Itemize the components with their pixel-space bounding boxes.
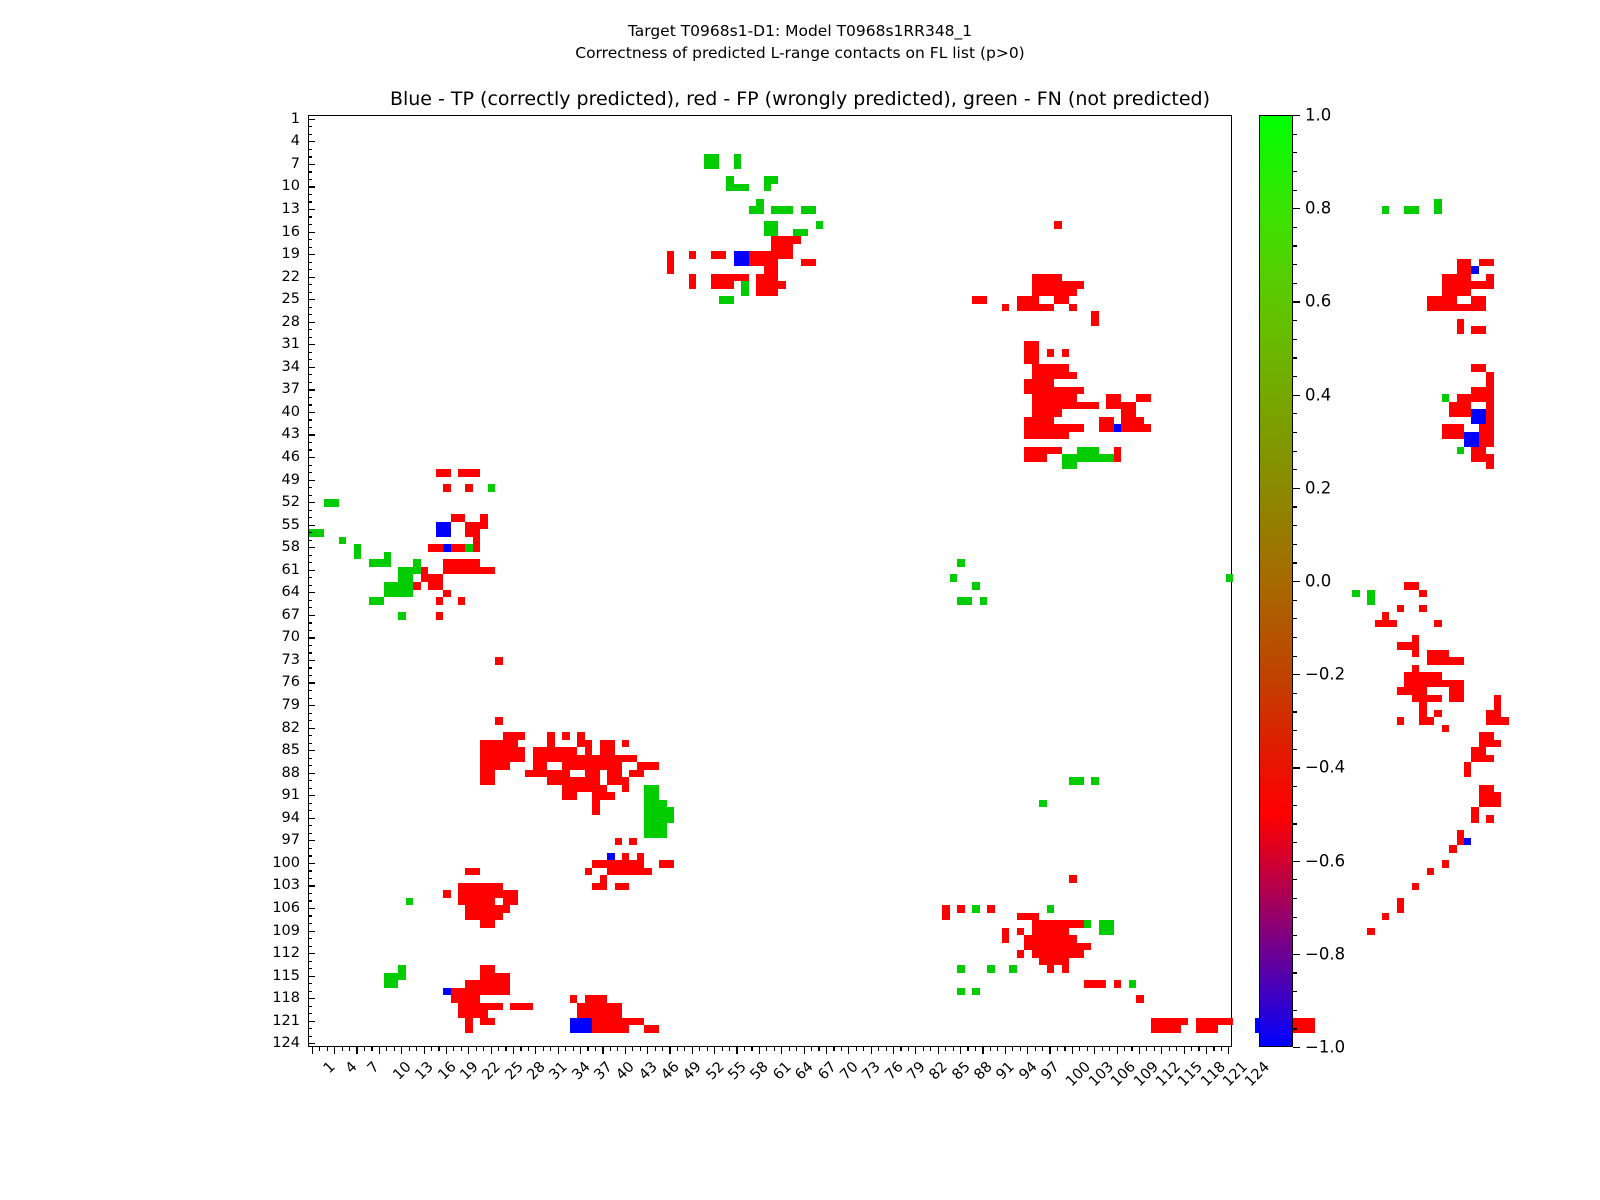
contact-cell bbox=[451, 544, 466, 552]
contact-cell bbox=[369, 559, 384, 567]
x-tick-minor bbox=[789, 1047, 790, 1051]
contact-cell bbox=[1479, 259, 1494, 267]
y-tick-minor bbox=[308, 585, 312, 586]
color-legend-text: Blue - TP (correctly predicted), red - F… bbox=[0, 88, 1600, 110]
y-tick-label: 124 bbox=[240, 1035, 300, 1051]
contact-cell bbox=[1486, 755, 1493, 763]
contact-cell bbox=[577, 755, 599, 770]
contact-cell bbox=[421, 567, 428, 582]
x-tick-major bbox=[1206, 1047, 1207, 1054]
y-tick-minor bbox=[308, 284, 312, 285]
y-tick-minor bbox=[308, 645, 312, 646]
colorbar-tick-minor bbox=[1293, 506, 1297, 507]
x-tick-major bbox=[1117, 1047, 1118, 1054]
contact-cell bbox=[1471, 266, 1478, 274]
y-tick-minor bbox=[308, 667, 312, 668]
y-tick-major bbox=[308, 525, 315, 526]
contact-cell bbox=[659, 860, 674, 868]
colorbar-tick-minor bbox=[1293, 991, 1297, 992]
y-tick-minor bbox=[308, 465, 312, 466]
y-tick-label: 64 bbox=[240, 584, 300, 600]
x-tick-minor bbox=[1057, 1047, 1058, 1051]
contact-cell bbox=[607, 770, 622, 785]
contact-cell bbox=[741, 289, 748, 297]
y-tick-label: 52 bbox=[240, 494, 300, 510]
x-tick-label: 67 bbox=[815, 1059, 839, 1083]
contact-cell bbox=[570, 995, 577, 1003]
contact-cell bbox=[1442, 394, 1449, 402]
contact-cell bbox=[1479, 424, 1494, 447]
x-tick-minor bbox=[908, 1047, 909, 1051]
contact-cell bbox=[1397, 898, 1404, 913]
contact-cell bbox=[778, 281, 785, 289]
colorbar-tick-label: −0.4 bbox=[1305, 758, 1345, 777]
x-tick-major bbox=[893, 1047, 894, 1054]
contact-cell bbox=[1017, 913, 1032, 921]
x-tick-major bbox=[334, 1047, 335, 1054]
contact-cell bbox=[1069, 920, 1084, 928]
contact-cell bbox=[577, 785, 592, 793]
y-tick-major bbox=[308, 998, 315, 999]
y-tick-minor bbox=[308, 878, 312, 879]
x-tick-minor bbox=[327, 1047, 328, 1051]
y-tick-minor bbox=[308, 983, 312, 984]
y-tick-major bbox=[308, 254, 315, 255]
x-tick-label: 91 bbox=[994, 1059, 1018, 1083]
x-tick-major bbox=[513, 1047, 514, 1054]
y-tick-label: 13 bbox=[240, 201, 300, 217]
contact-cell bbox=[764, 251, 779, 274]
y-tick-minor bbox=[308, 630, 312, 631]
y-tick-label: 73 bbox=[240, 652, 300, 668]
x-tick-label: 28 bbox=[524, 1059, 548, 1083]
contact-cell bbox=[1114, 980, 1121, 988]
title-line-1: Target T0968s1-D1: Model T0968s1RR348_1 bbox=[0, 20, 1600, 42]
y-tick-major bbox=[308, 1021, 315, 1022]
y-tick-major bbox=[308, 186, 315, 187]
contact-cell bbox=[1464, 838, 1471, 846]
contact-cell bbox=[436, 612, 443, 620]
y-tick-minor bbox=[308, 427, 312, 428]
contact-cell bbox=[711, 274, 733, 289]
x-tick-label: 46 bbox=[658, 1059, 682, 1083]
y-tick-label: 40 bbox=[240, 404, 300, 420]
y-tick-minor bbox=[308, 600, 312, 601]
x-tick-minor bbox=[550, 1047, 551, 1051]
contact-cell bbox=[1486, 372, 1493, 387]
contact-cell bbox=[1024, 379, 1046, 394]
y-tick-major bbox=[308, 863, 315, 864]
y-tick-minor bbox=[308, 292, 312, 293]
contact-cell bbox=[1464, 762, 1471, 777]
colorbar-tick-minor bbox=[1293, 339, 1297, 340]
contact-cell bbox=[622, 755, 637, 763]
contact-cell bbox=[622, 740, 629, 748]
x-tick-major bbox=[468, 1047, 469, 1054]
contact-cell bbox=[1457, 394, 1472, 402]
colorbar-tick-major bbox=[1293, 954, 1300, 955]
contact-cell bbox=[637, 762, 659, 770]
x-tick-minor bbox=[476, 1047, 477, 1051]
x-tick-major bbox=[535, 1047, 536, 1054]
y-tick-minor bbox=[308, 562, 312, 563]
colorbar-tick-major bbox=[1293, 1047, 1300, 1048]
y-tick-major bbox=[308, 434, 315, 435]
y-tick-minor bbox=[308, 449, 312, 450]
contact-cell bbox=[1129, 980, 1136, 988]
contact-cell bbox=[1486, 815, 1493, 823]
contact-cell bbox=[1486, 454, 1493, 469]
y-tick-label: 61 bbox=[240, 562, 300, 578]
x-tick-minor bbox=[997, 1047, 998, 1051]
contact-cell bbox=[1121, 402, 1136, 417]
colorbar-tick-label: 0.6 bbox=[1305, 292, 1331, 311]
x-tick-label: 49 bbox=[681, 1059, 705, 1083]
x-tick-major bbox=[938, 1047, 939, 1054]
contact-map-plot[interactable] bbox=[308, 115, 1232, 1047]
x-tick-minor bbox=[573, 1047, 574, 1051]
contact-cell bbox=[1084, 920, 1091, 928]
contact-cell bbox=[443, 484, 450, 492]
x-tick-label: 94 bbox=[1016, 1059, 1040, 1083]
contact-cell bbox=[756, 274, 778, 297]
y-tick-label: 88 bbox=[240, 765, 300, 781]
y-tick-major bbox=[308, 141, 315, 142]
x-tick-label: 4 bbox=[343, 1059, 361, 1077]
y-tick-minor bbox=[308, 1028, 312, 1029]
y-tick-label: 49 bbox=[240, 472, 300, 488]
contact-cell bbox=[629, 838, 636, 846]
y-tick-label: 58 bbox=[240, 539, 300, 555]
contact-cell bbox=[465, 544, 472, 552]
contact-cell bbox=[957, 988, 964, 996]
contact-cell bbox=[1062, 958, 1069, 973]
contact-cell bbox=[1471, 281, 1486, 289]
contact-cell bbox=[726, 176, 733, 191]
y-tick-label: 85 bbox=[240, 742, 300, 758]
colorbar-tick-minor bbox=[1293, 935, 1297, 936]
colorbar-tick-minor bbox=[1293, 1028, 1297, 1029]
contact-cell bbox=[972, 988, 979, 996]
contact-cell bbox=[1427, 868, 1434, 876]
colorbar-tick-minor bbox=[1293, 562, 1297, 563]
colorbar-tick-minor bbox=[1293, 618, 1297, 619]
y-tick-minor bbox=[308, 382, 312, 383]
x-tick-minor bbox=[520, 1047, 521, 1051]
colorbar-tick-minor bbox=[1293, 245, 1297, 246]
contact-cell bbox=[1471, 387, 1493, 402]
y-tick-major bbox=[308, 119, 315, 120]
x-tick-label: 43 bbox=[636, 1059, 660, 1083]
contact-cell bbox=[764, 176, 779, 184]
y-tick-label: 100 bbox=[240, 855, 300, 871]
contact-cell bbox=[1382, 206, 1389, 214]
y-tick-major bbox=[308, 795, 315, 796]
x-tick-label: 61 bbox=[770, 1059, 794, 1083]
contact-cell bbox=[711, 251, 726, 259]
contact-cell bbox=[369, 597, 384, 605]
contact-cell bbox=[398, 567, 413, 582]
contact-cell bbox=[585, 740, 592, 755]
y-tick-major bbox=[308, 1043, 315, 1044]
x-tick-minor bbox=[707, 1047, 708, 1051]
x-tick-minor bbox=[990, 1047, 991, 1051]
contact-cell bbox=[1069, 372, 1076, 380]
colorbar-tick-label: 0.8 bbox=[1305, 199, 1331, 218]
y-tick-label: 121 bbox=[240, 1013, 300, 1029]
y-tick-major bbox=[308, 750, 315, 751]
x-tick-minor bbox=[1020, 1047, 1021, 1051]
contact-cell bbox=[615, 838, 622, 846]
y-tick-major bbox=[308, 277, 315, 278]
x-tick-major bbox=[1184, 1047, 1185, 1054]
y-tick-major bbox=[308, 682, 315, 683]
contact-cell bbox=[443, 590, 450, 598]
contact-cell bbox=[1471, 447, 1486, 462]
y-tick-minor bbox=[308, 134, 312, 135]
contact-cell bbox=[987, 965, 994, 973]
x-tick-label: 52 bbox=[703, 1059, 727, 1083]
x-tick-minor bbox=[1087, 1047, 1088, 1051]
contact-cell bbox=[1077, 943, 1092, 951]
y-tick-label: 94 bbox=[240, 810, 300, 826]
contact-cell bbox=[734, 274, 749, 282]
x-tick-minor bbox=[684, 1047, 685, 1051]
x-tick-minor bbox=[386, 1047, 387, 1051]
contact-cell bbox=[1427, 650, 1449, 665]
y-tick-minor bbox=[308, 765, 312, 766]
y-tick-minor bbox=[308, 247, 312, 248]
x-tick-major bbox=[1161, 1047, 1162, 1054]
x-tick-minor bbox=[610, 1047, 611, 1051]
colorbar-tick-major bbox=[1293, 208, 1300, 209]
x-tick-minor bbox=[886, 1047, 887, 1051]
contact-cell bbox=[622, 853, 629, 861]
x-tick-major bbox=[848, 1047, 849, 1054]
x-tick-minor bbox=[595, 1047, 596, 1051]
x-tick-minor bbox=[1124, 1047, 1125, 1051]
x-tick-minor bbox=[677, 1047, 678, 1051]
x-tick-major bbox=[960, 1047, 961, 1054]
y-tick-label: 97 bbox=[240, 832, 300, 848]
colorbar-tick-minor bbox=[1293, 917, 1297, 918]
y-tick-minor bbox=[308, 171, 312, 172]
contact-cell bbox=[1151, 1018, 1181, 1033]
contact-cell bbox=[1419, 717, 1434, 725]
x-tick-major bbox=[580, 1047, 581, 1054]
x-tick-major bbox=[915, 1047, 916, 1054]
y-tick-minor bbox=[308, 404, 312, 405]
contact-cell bbox=[458, 1003, 488, 1018]
x-tick-label: 37 bbox=[591, 1059, 615, 1083]
y-tick-major bbox=[308, 592, 315, 593]
x-tick-label: 10 bbox=[390, 1059, 414, 1083]
contact-cell bbox=[503, 890, 518, 905]
contact-cell bbox=[950, 574, 957, 582]
contact-cell bbox=[1054, 296, 1069, 304]
contact-cell bbox=[1069, 950, 1084, 958]
y-tick-major bbox=[308, 209, 315, 210]
contact-cell bbox=[1486, 274, 1493, 289]
contact-cell bbox=[465, 868, 480, 876]
contact-cell bbox=[1449, 402, 1471, 417]
contact-cell bbox=[570, 1018, 592, 1033]
x-tick-major bbox=[1049, 1047, 1050, 1054]
colorbar-tick-label: −0.8 bbox=[1305, 944, 1345, 963]
contact-cell bbox=[324, 499, 339, 507]
y-tick-minor bbox=[308, 870, 312, 871]
contact-cell bbox=[1404, 672, 1426, 687]
y-tick-major bbox=[308, 840, 315, 841]
contact-cell bbox=[398, 965, 405, 980]
contact-cell bbox=[793, 229, 808, 237]
contact-cell bbox=[1062, 349, 1069, 357]
contact-cell bbox=[1114, 447, 1121, 462]
contact-cell bbox=[1471, 364, 1486, 372]
contact-cell bbox=[637, 853, 644, 861]
contact-cell bbox=[384, 973, 399, 988]
contact-cell bbox=[592, 785, 607, 800]
y-tick-label: 22 bbox=[240, 269, 300, 285]
contact-cell bbox=[1449, 845, 1456, 853]
figure-root: Target T0968s1-D1: Model T0968s1RR348_1 … bbox=[0, 0, 1600, 1200]
y-tick-label: 79 bbox=[240, 697, 300, 713]
contact-cell bbox=[436, 522, 451, 537]
y-tick-minor bbox=[308, 149, 312, 150]
colorbar-tick-minor bbox=[1293, 469, 1297, 470]
x-tick-minor bbox=[841, 1047, 842, 1051]
y-tick-minor bbox=[308, 269, 312, 270]
contact-cell bbox=[622, 785, 629, 793]
colorbar-tick-minor bbox=[1293, 656, 1297, 657]
x-tick-minor bbox=[565, 1047, 566, 1051]
y-tick-minor bbox=[308, 472, 312, 473]
contact-cell bbox=[413, 559, 420, 574]
x-tick-minor bbox=[923, 1047, 924, 1051]
x-tick-major bbox=[446, 1047, 447, 1054]
contact-cell bbox=[443, 988, 450, 996]
contact-cell bbox=[1397, 605, 1404, 613]
x-tick-label: 55 bbox=[726, 1059, 750, 1083]
contact-cell bbox=[488, 1003, 503, 1011]
y-tick-major bbox=[308, 344, 315, 345]
x-tick-label: 34 bbox=[569, 1059, 593, 1083]
x-tick-label: 85 bbox=[949, 1059, 973, 1083]
x-tick-minor bbox=[1191, 1047, 1192, 1051]
y-tick-major bbox=[308, 570, 315, 571]
colorbar[interactable] bbox=[1259, 115, 1293, 1047]
contact-cell bbox=[1412, 635, 1419, 643]
y-tick-minor bbox=[308, 923, 312, 924]
contact-cell bbox=[1047, 905, 1054, 913]
colorbar-tick-minor bbox=[1293, 413, 1297, 414]
contact-cell bbox=[793, 236, 800, 244]
y-tick-minor bbox=[308, 607, 312, 608]
x-tick-minor bbox=[587, 1047, 588, 1051]
y-tick-major bbox=[308, 412, 315, 413]
contact-cell bbox=[1397, 687, 1412, 695]
y-tick-major bbox=[308, 615, 315, 616]
y-tick-label: 109 bbox=[240, 923, 300, 939]
x-tick-label: 58 bbox=[748, 1059, 772, 1083]
contact-cell bbox=[398, 612, 405, 620]
contact-cell bbox=[644, 1025, 659, 1033]
contact-cell bbox=[1367, 590, 1374, 605]
y-tick-minor bbox=[308, 758, 312, 759]
contact-cell bbox=[428, 582, 443, 590]
x-tick-label: 79 bbox=[904, 1059, 928, 1083]
contact-cell bbox=[1196, 1018, 1218, 1033]
contact-cell bbox=[585, 868, 592, 876]
contact-cell bbox=[1017, 296, 1039, 311]
contact-cell bbox=[1032, 394, 1062, 417]
x-tick-minor bbox=[975, 1047, 976, 1051]
contact-cell bbox=[734, 251, 749, 266]
y-tick-minor bbox=[308, 179, 312, 180]
x-tick-label: 25 bbox=[502, 1059, 526, 1083]
contact-cell bbox=[495, 980, 510, 995]
contact-cell bbox=[607, 792, 614, 800]
contact-map-cells bbox=[309, 116, 1231, 1046]
colorbar-tick-major bbox=[1293, 674, 1300, 675]
contact-cell bbox=[562, 732, 569, 740]
contact-cell bbox=[1114, 424, 1121, 432]
title-line-2: Correctness of predicted L-range contact… bbox=[0, 42, 1600, 64]
contact-cell bbox=[1404, 582, 1419, 590]
contact-cell bbox=[1069, 777, 1084, 785]
y-tick-major bbox=[308, 885, 315, 886]
y-tick-minor bbox=[308, 510, 312, 511]
contact-cell bbox=[1106, 394, 1121, 409]
x-tick-major bbox=[491, 1047, 492, 1054]
contact-cell bbox=[1412, 665, 1419, 673]
contact-cell bbox=[1032, 950, 1039, 958]
contact-cell bbox=[413, 582, 420, 590]
y-tick-minor bbox=[308, 374, 312, 375]
contact-cell bbox=[1434, 199, 1441, 214]
contact-cell bbox=[443, 559, 480, 574]
y-tick-minor bbox=[308, 397, 312, 398]
y-tick-label: 115 bbox=[240, 968, 300, 984]
colorbar-tick-major bbox=[1293, 861, 1300, 862]
contact-cell bbox=[1024, 935, 1061, 950]
x-tick-label: 31 bbox=[547, 1059, 571, 1083]
contact-cell bbox=[1419, 702, 1426, 717]
contact-cell bbox=[510, 755, 517, 763]
contact-cell bbox=[443, 890, 450, 898]
contact-cell bbox=[458, 469, 480, 477]
y-tick-minor bbox=[308, 780, 312, 781]
x-tick-major bbox=[714, 1047, 715, 1054]
y-tick-major bbox=[308, 705, 315, 706]
contact-cell bbox=[443, 544, 450, 552]
contact-cell bbox=[1427, 672, 1442, 687]
x-tick-major bbox=[379, 1047, 380, 1054]
x-tick-label: 22 bbox=[480, 1059, 504, 1083]
contact-cell bbox=[1062, 394, 1077, 409]
x-tick-minor bbox=[394, 1047, 395, 1051]
y-tick-minor bbox=[308, 968, 312, 969]
contact-cell bbox=[1136, 394, 1151, 402]
contact-cell bbox=[659, 807, 674, 822]
contact-cell bbox=[957, 965, 964, 973]
contact-cell bbox=[480, 567, 495, 575]
contact-cell bbox=[1471, 326, 1486, 334]
y-tick-minor bbox=[308, 848, 312, 849]
x-tick-minor bbox=[364, 1047, 365, 1051]
contact-cell bbox=[1054, 424, 1069, 439]
contact-cell bbox=[1218, 1018, 1233, 1026]
